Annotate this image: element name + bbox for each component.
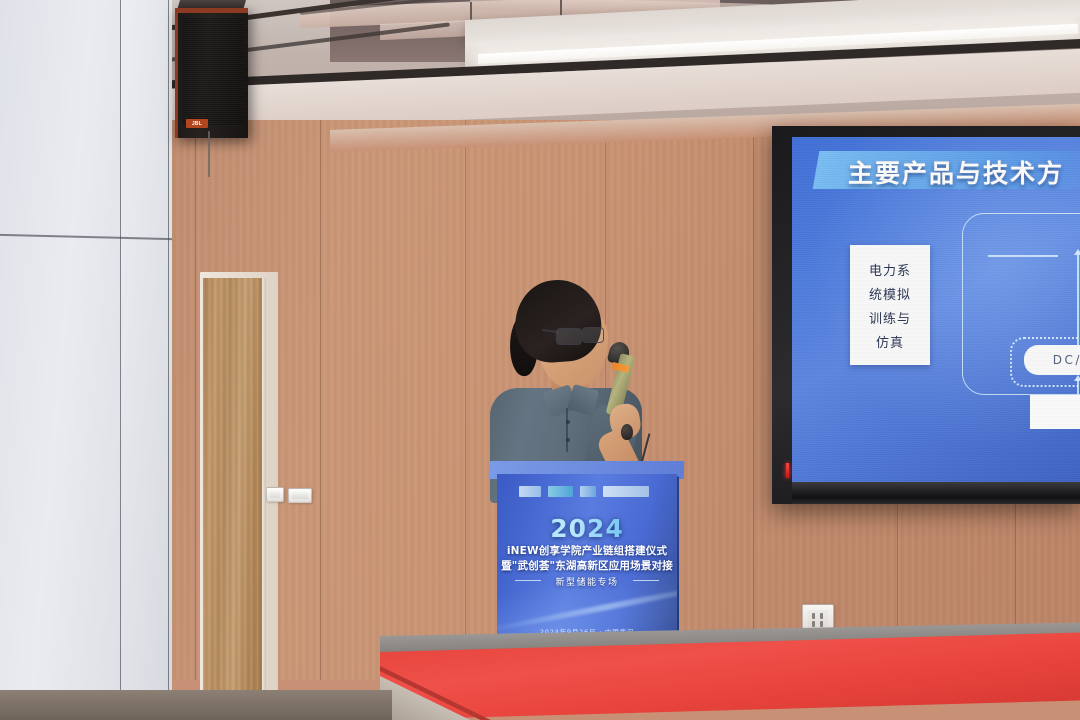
podium-sponsor-logos [519,484,659,498]
wall-switch[interactable] [266,487,284,502]
glasses-lens-right [582,327,604,343]
shirt-button [566,438,570,442]
door-jamb [262,278,266,692]
wall-switch[interactable] [288,488,312,503]
institute-logo [548,486,573,497]
glasses-bridge [579,332,584,334]
shirt-button [566,420,570,424]
screen-bottom-bezel [792,482,1080,504]
panel-seam [120,0,121,700]
podium-year: 2024 [497,514,677,543]
glasses-lens-left [556,328,582,345]
jbl-logo: JBL [186,119,208,128]
screen-surface: 主要产品与技术方 电力系 统模拟 训练与 仿真 DC/AC [792,137,1080,482]
podium-event-subtitle: 新型储能专场 [497,575,677,588]
shirt-placket [566,408,568,452]
wall-seam [753,120,754,680]
wall-seam [195,120,196,680]
gooseneck-microphone-head [621,424,633,440]
podium-event-line-2: 暨"武创荟"东湖高新区应用场景对接 [497,558,677,573]
hair [512,277,604,365]
wave-logo [580,486,596,497]
speaker-grille [182,17,244,126]
door-grain-texture [203,278,263,692]
podium-event-line-1: iNEW创享学院产业链组搭建仪式 [497,543,677,558]
panel-wall-left [0,0,172,700]
panel-seam [168,0,169,700]
ceiling-speaker: JBL [175,8,248,138]
wooden-door[interactable] [203,278,263,692]
research-institute-logo [603,486,649,497]
speaker-cable [208,131,210,177]
conference-hall-photo: JBL 主要产品与技术方 电力系 统模拟 训练与 仿真 DC/AC [0,0,1080,720]
led-scanline-texture [792,137,1080,482]
led-wall-display[interactable]: 主要产品与技术方 电力系 统模拟 训练与 仿真 DC/AC [772,126,1080,504]
power-indicator-led [786,463,789,478]
wall-seam [320,120,321,680]
university-logo [519,486,541,497]
wall-corner [120,0,172,700]
wall-seam [465,120,466,680]
floor [0,690,392,720]
